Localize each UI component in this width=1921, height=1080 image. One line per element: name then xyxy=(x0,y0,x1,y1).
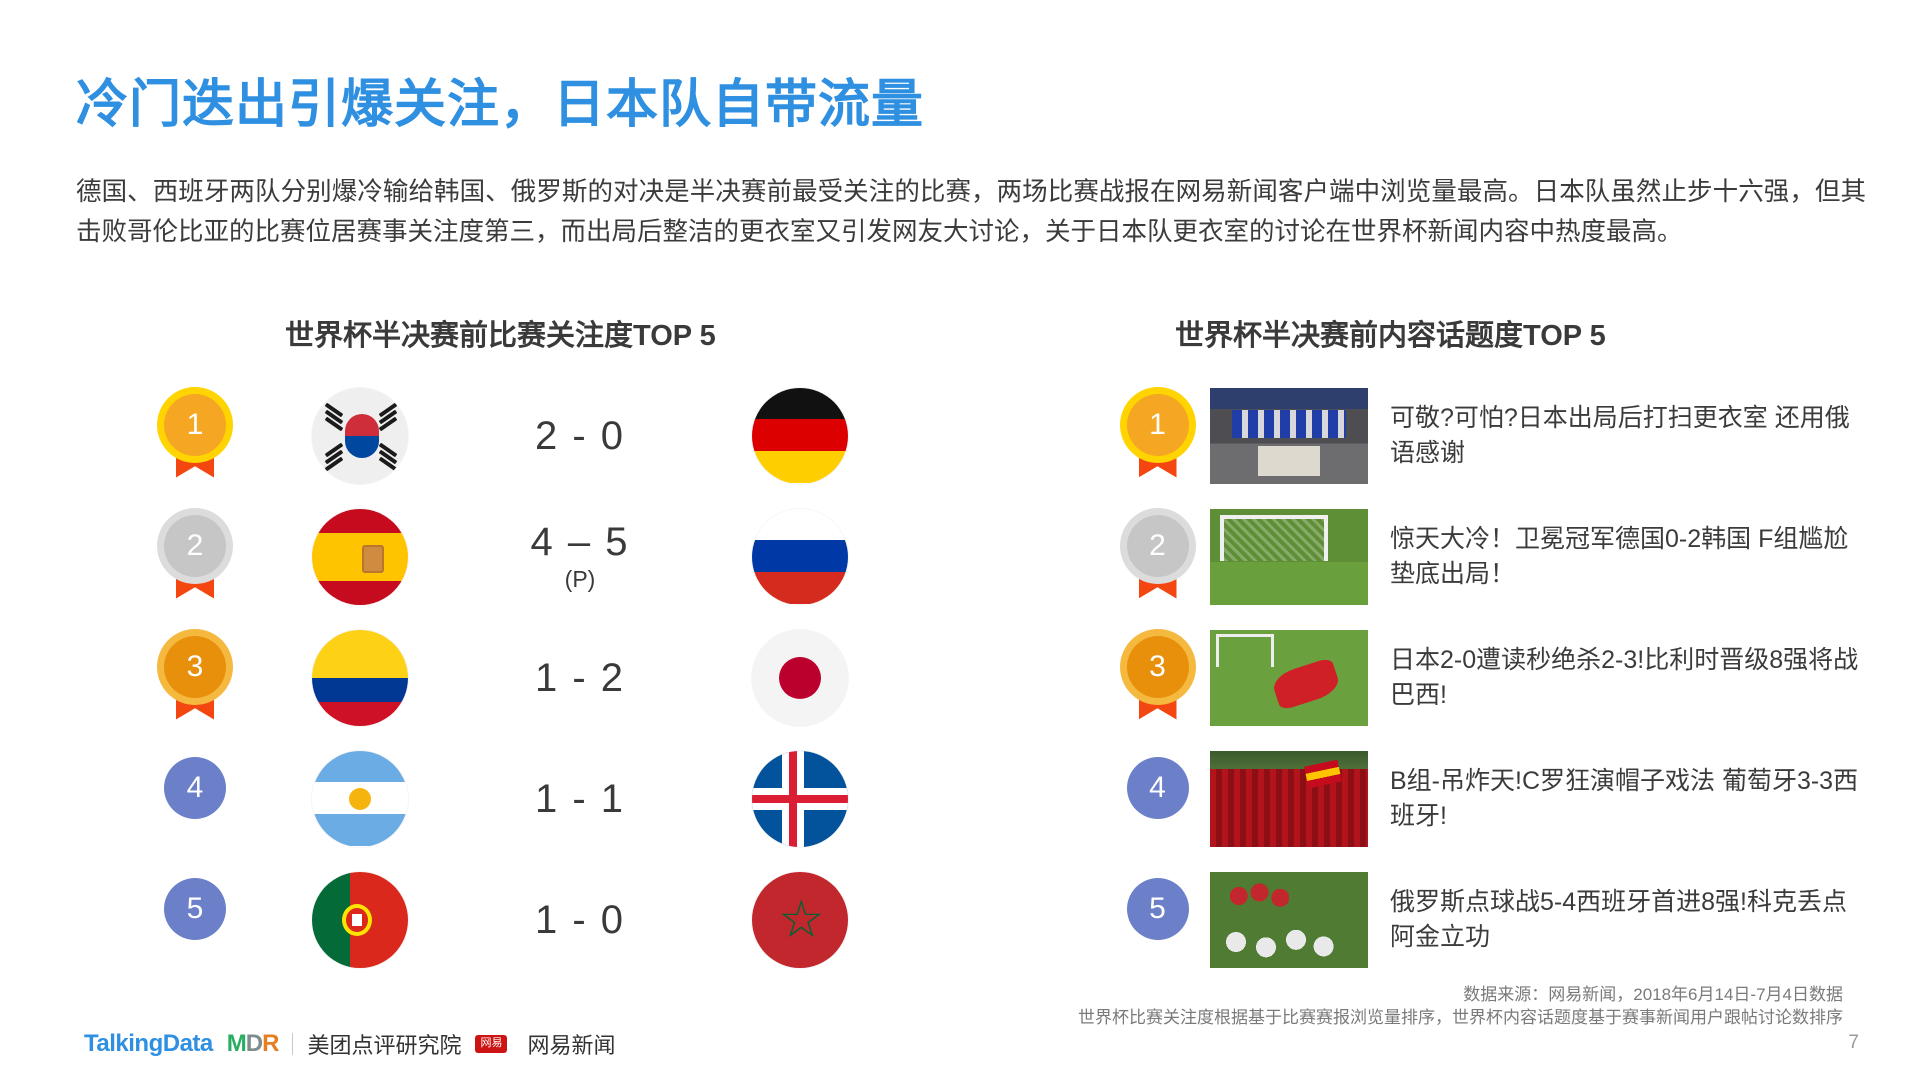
news-thumbnail-crowd[interactable] xyxy=(1210,751,1368,847)
team-b-flag-cell xyxy=(700,751,900,847)
rank-number: 2 xyxy=(1127,515,1189,577)
team-b-flag-cell: ☆ xyxy=(700,872,900,968)
flag-co xyxy=(312,630,408,726)
source-line-1: 数据来源：网易新闻，2018年6月14日-7月4日数据 xyxy=(1463,980,1843,1005)
news-headline[interactable]: B组-吊炸天!C罗狂演帽子戏法 葡萄牙3-3西班牙! xyxy=(1390,764,1860,834)
match-score: 2 - 0 xyxy=(535,414,625,458)
news-thumbnail-pitch2[interactable] xyxy=(1210,630,1368,726)
news-rank-cell: 1 xyxy=(1105,394,1210,478)
news-row[interactable]: 3日本2-0遭读秒绝杀2-3!比利时晋级8强将战巴西! xyxy=(1105,617,1905,738)
match-score-cell: 1 - 1 xyxy=(460,777,700,821)
match-row: 31 - 2 xyxy=(130,617,930,738)
team-a-flag-cell xyxy=(260,388,460,484)
rank-number: 1 xyxy=(1127,394,1189,456)
team-b-flag-cell xyxy=(700,388,900,484)
flag-ru xyxy=(752,509,848,605)
right-section-heading: 世界杯半决赛前内容话题度TOP 5 xyxy=(1175,312,1606,354)
match-score-note: (P) xyxy=(565,566,596,594)
news-ranking-list: 1可敬?可怕?日本出局后打扫更衣室 还用俄语感谢2惊天大冷！卫冕冠军德国0-2韩… xyxy=(1105,375,1905,980)
news-rank-cell: 2 xyxy=(1105,515,1210,599)
rank-badge-5: 5 xyxy=(164,878,226,962)
rank-badge-5: 5 xyxy=(1127,878,1189,962)
team-a-flag-cell xyxy=(260,872,460,968)
team-a-flag-cell xyxy=(260,630,460,726)
match-row: 51 - 0☆ xyxy=(130,859,930,980)
mdr-letter-r: R xyxy=(262,1030,278,1057)
news-row[interactable]: 4B组-吊炸天!C罗狂演帽子戏法 葡萄牙3-3西班牙! xyxy=(1105,738,1905,859)
left-section-heading: 世界杯半决赛前比赛关注度TOP 5 xyxy=(285,312,716,354)
rank-number: 3 xyxy=(164,636,226,698)
netease-badge-icon: 网易 xyxy=(475,1035,507,1053)
rank-number: 3 xyxy=(1127,636,1189,698)
rank-badge-3: 3 xyxy=(1127,636,1189,720)
talkingdata-logo: TalkingData xyxy=(84,1030,213,1058)
rank-number: 2 xyxy=(164,515,226,577)
rank-badge-2: 2 xyxy=(164,515,226,599)
logo-divider xyxy=(292,1033,293,1055)
rank-badge-4: 4 xyxy=(1127,757,1189,841)
match-score-cell: 4 – 5(P) xyxy=(460,520,700,594)
match-ranking-list: 12 - 024 – 5(P)31 - 241 - 151 - 0☆ xyxy=(130,375,930,980)
rank-number: 4 xyxy=(1127,757,1189,819)
rank-number: 5 xyxy=(164,878,226,940)
rank-number: 4 xyxy=(164,757,226,819)
match-rank-cell: 1 xyxy=(130,394,260,478)
news-thumbnail-lockerroom[interactable] xyxy=(1210,388,1368,484)
news-thumbnail-pitch[interactable] xyxy=(1210,509,1368,605)
news-headline[interactable]: 俄罗斯点球战5-4西班牙首进8强!科克丢点阿金立功 xyxy=(1390,885,1860,955)
match-rank-cell: 5 xyxy=(130,878,260,962)
mdr-logo: MDR xyxy=(227,1030,279,1058)
match-score: 1 - 1 xyxy=(535,777,625,821)
rank-badge-1: 1 xyxy=(164,394,226,478)
flag-de xyxy=(752,388,848,484)
match-score-cell: 1 - 2 xyxy=(460,656,700,700)
news-rank-cell: 4 xyxy=(1105,757,1210,841)
rank-number: 5 xyxy=(1127,878,1189,940)
flag-is xyxy=(752,751,848,847)
match-rank-cell: 4 xyxy=(130,757,260,841)
team-a-flag-cell xyxy=(260,509,460,605)
intro-paragraph: 德国、西班牙两队分别爆冷输给韩国、俄罗斯的对决是半决赛前最受关注的比赛，两场比赛… xyxy=(76,172,1866,252)
match-row: 24 – 5(P) xyxy=(130,496,930,617)
rank-badge-4: 4 xyxy=(164,757,226,841)
news-row[interactable]: 5俄罗斯点球战5-4西班牙首进8强!科克丢点阿金立功 xyxy=(1105,859,1905,980)
meituan-research-logo: 美团点评研究院 xyxy=(307,1028,461,1060)
news-thumbnail-celebrate[interactable] xyxy=(1210,872,1368,968)
source-line-2: 世界杯比赛关注度根据基于比赛赛报浏览量排序，世界杯内容话题度基于赛事新闻用户跟帖… xyxy=(1078,1003,1843,1028)
match-rank-cell: 2 xyxy=(130,515,260,599)
rank-badge-2: 2 xyxy=(1127,515,1189,599)
news-rank-cell: 5 xyxy=(1105,878,1210,962)
news-headline[interactable]: 可敬?可怕?日本出局后打扫更衣室 还用俄语感谢 xyxy=(1390,401,1860,471)
flag-jp xyxy=(752,630,848,726)
news-headline[interactable]: 惊天大冷！卫冕冠军德国0-2韩国 F组尴尬垫底出局！ xyxy=(1390,522,1860,592)
flag-ma: ☆ xyxy=(752,872,848,968)
match-score-cell: 1 - 0 xyxy=(460,898,700,942)
page-number: 7 xyxy=(1848,1032,1859,1054)
news-row[interactable]: 1可敬?可怕?日本出局后打扫更衣室 还用俄语感谢 xyxy=(1105,375,1905,496)
match-row: 41 - 1 xyxy=(130,738,930,859)
match-rank-cell: 3 xyxy=(130,636,260,720)
match-row: 12 - 0 xyxy=(130,375,930,496)
footer-logos: TalkingData MDR 美团点评研究院 网易 网易新闻 xyxy=(84,1028,615,1060)
mdr-letter-d: D xyxy=(246,1030,262,1057)
rank-number: 1 xyxy=(164,394,226,456)
match-score-cell: 2 - 0 xyxy=(460,414,700,458)
match-score: 1 - 2 xyxy=(535,656,625,700)
flag-es xyxy=(312,509,408,605)
flag-pt xyxy=(312,872,408,968)
slide-page: 冷门迭出引爆关注，日本队自带流量 德国、西班牙两队分别爆冷输给韩国、俄罗斯的对决… xyxy=(0,0,1921,1080)
match-score: 4 – 5 xyxy=(531,520,630,564)
mdr-letter-m: M xyxy=(227,1030,246,1057)
flag-ar xyxy=(312,751,408,847)
team-b-flag-cell xyxy=(700,509,900,605)
rank-badge-3: 3 xyxy=(164,636,226,720)
news-rank-cell: 3 xyxy=(1105,636,1210,720)
news-row[interactable]: 2惊天大冷！卫冕冠军德国0-2韩国 F组尴尬垫底出局！ xyxy=(1105,496,1905,617)
page-title: 冷门迭出引爆关注，日本队自带流量 xyxy=(76,62,924,137)
news-headline[interactable]: 日本2-0遭读秒绝杀2-3!比利时晋级8强将战巴西! xyxy=(1390,643,1860,713)
team-b-flag-cell xyxy=(700,630,900,726)
flag-kr xyxy=(312,388,408,484)
match-score: 1 - 0 xyxy=(535,898,625,942)
netease-news-logo: 网易新闻 xyxy=(527,1028,615,1060)
rank-badge-1: 1 xyxy=(1127,394,1189,478)
team-a-flag-cell xyxy=(260,751,460,847)
